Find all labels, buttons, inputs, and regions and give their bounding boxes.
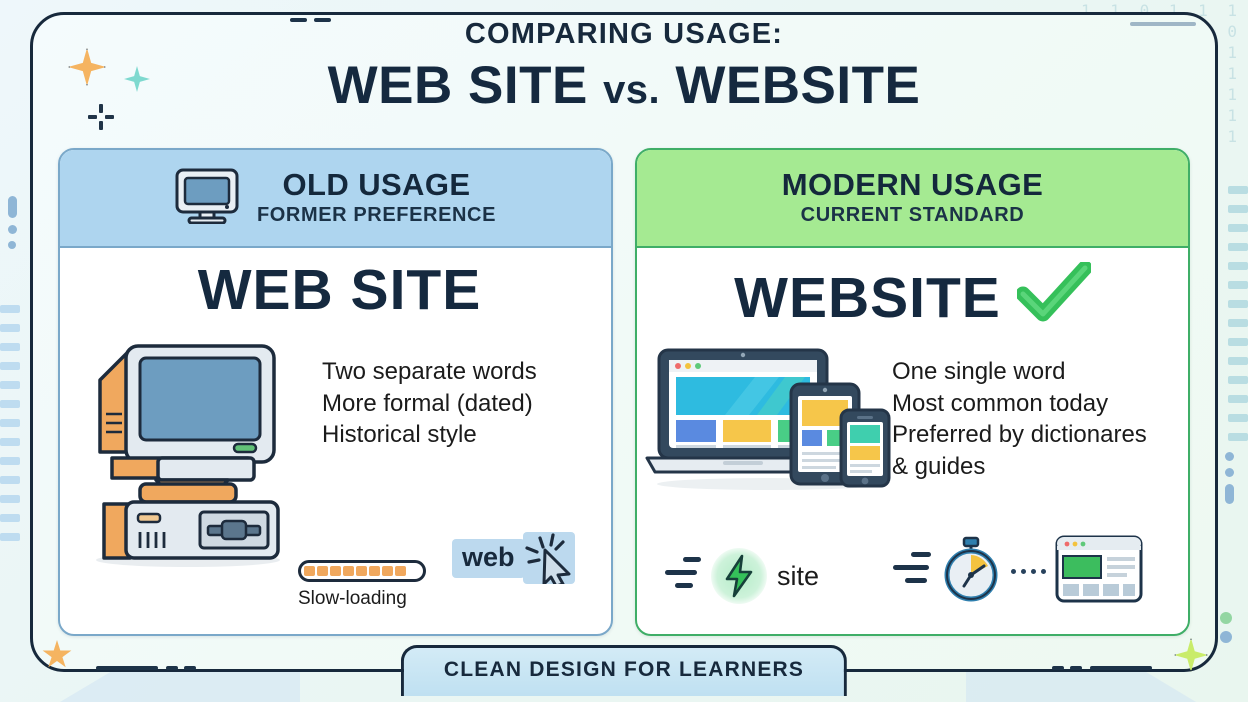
fast-speed-group: site [665, 548, 819, 604]
panel-modern-term-row: WEBSITE [637, 262, 1188, 334]
list-item: Historical style [322, 419, 537, 451]
decor-rule-header-right [1130, 22, 1196, 26]
footer-banner: CLEAN DESIGN FOR LEARNERS [401, 645, 847, 696]
list-item: Preferred by dictionares & guides [892, 419, 1152, 482]
list-item: One single word [892, 356, 1152, 388]
panel-old-header: OLD USAGE FORMER PREFERENCE [60, 150, 611, 248]
panel-old-body: WEB SITE Two separate words More formal … [60, 248, 611, 634]
panel-old-subtitle: FORMER PREFERENCE [257, 204, 496, 227]
click-cursor-icon [523, 532, 575, 584]
site-word-label: site [777, 561, 819, 592]
title-term-modern: WEBSITE [675, 56, 920, 115]
slow-loading-indicator: Slow-loading [298, 560, 426, 610]
panel-modern-header: MODERN USAGE CURRENT STANDARD [637, 150, 1188, 248]
green-check-icon [1017, 262, 1091, 334]
title-vs: vs. [603, 68, 660, 112]
panel-old-usage: OLD USAGE FORMER PREFERENCE WEB SITE Two… [58, 148, 613, 636]
stopwatch-icon [940, 536, 1002, 607]
lightning-bolt-icon [711, 548, 767, 604]
performance-group [893, 535, 1143, 608]
panel-old-bullets: Two separate words More formal (dated) H… [322, 356, 537, 451]
browser-window-icon [1055, 535, 1143, 608]
decor-dashes-right [1222, 186, 1248, 452]
list-item: Two separate words [322, 356, 537, 388]
motion-lines-icon [665, 557, 701, 596]
page-title: WEB SITE vs. WEBSITE [0, 55, 1248, 116]
title-term-old: WEB SITE [328, 56, 588, 115]
decor-dashes-header-left [290, 18, 331, 22]
panel-old-term: WEB SITE [60, 262, 611, 319]
plus-mark-icon [88, 104, 114, 130]
dotted-connector [1011, 569, 1046, 574]
progress-label: Slow-loading [298, 588, 426, 610]
panel-modern-term: WEBSITE [734, 270, 1001, 327]
modern-devices-illustration [645, 340, 893, 497]
panel-modern-subtitle: CURRENT STANDARD [782, 204, 1043, 227]
page-header: COMPARING USAGE: WEB SITE vs. WEBSITE [0, 18, 1248, 116]
panel-modern-bullets: One single word Most common today Prefer… [892, 356, 1152, 483]
decor-dash-bottom-left-1 [166, 666, 178, 670]
decor-dots-right [1225, 452, 1234, 511]
decor-rule-bottom-right [1090, 666, 1152, 670]
comparison-panels: OLD USAGE FORMER PREFERENCE WEB SITE Two… [58, 148, 1190, 636]
decor-dash-bottom-right-2 [1052, 666, 1064, 670]
progress-bar [298, 560, 426, 582]
panel-modern-usage: MODERN USAGE CURRENT STANDARD WEBSITE On… [635, 148, 1190, 636]
panel-old-title: OLD USAGE [257, 169, 496, 202]
web-text-chip: web [452, 539, 525, 578]
decor-dots-right-lower [1220, 612, 1232, 650]
retro-desktop-computer-illustration [82, 332, 294, 577]
decor-rule-bottom-left [96, 666, 158, 670]
decor-dots-left [8, 196, 17, 256]
list-item: Most common today [892, 388, 1152, 420]
motion-lines-icon-2 [893, 552, 931, 591]
panel-modern-title: MODERN USAGE [782, 169, 1043, 202]
decor-dash-bottom-left-2 [184, 666, 196, 670]
desktop-monitor-icon [175, 168, 239, 229]
header-kicker: COMPARING USAGE: [0, 18, 1248, 51]
web-chip-group: web [452, 532, 575, 584]
decor-dashes-left [0, 305, 20, 552]
panel-modern-body: WEBSITE One single word Most common toda… [637, 248, 1188, 634]
list-item: More formal (dated) [322, 388, 537, 420]
decor-dash-bottom-right-1 [1070, 666, 1082, 670]
